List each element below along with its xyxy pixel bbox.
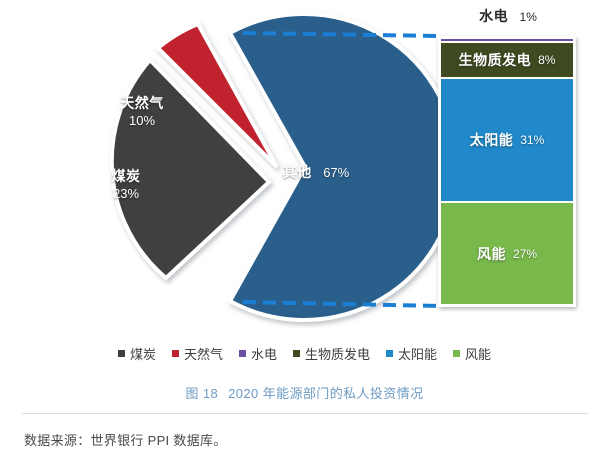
legend-swatch-coal-icon bbox=[118, 350, 125, 357]
pie-slice-coal[interactable] bbox=[112, 60, 269, 278]
figure-caption-number: 图 18 bbox=[185, 386, 218, 401]
legend-swatch-biomass-icon bbox=[293, 350, 300, 357]
legend-swatch-wind-icon bbox=[453, 350, 460, 357]
bar-segment-solar-name: 太阳能 bbox=[470, 130, 514, 150]
footer-divider bbox=[22, 413, 588, 414]
bar-label-hydro-value: 1% bbox=[520, 10, 537, 24]
stacked-bar: 生物质发电 8% 太阳能 31% 风能 27% bbox=[438, 36, 576, 307]
bar-label-hydro-name: 水电 bbox=[479, 8, 508, 24]
figure-caption-text: 2020 年能源部门的私人投资情况 bbox=[228, 386, 423, 401]
chart-graphic-area: 天然气 10% 煤炭 23% 其他 67% 水电 1% 生物质发电 8% 太阳能… bbox=[0, 0, 609, 330]
legend-swatch-natural-gas-icon bbox=[172, 350, 179, 357]
bar-segment-solar-value: 31% bbox=[520, 133, 544, 147]
legend-item-solar[interactable]: 太阳能 bbox=[386, 344, 437, 363]
bar-label-hydro-callout: 水电 1% bbox=[440, 6, 576, 26]
legend-label-solar: 太阳能 bbox=[398, 344, 437, 363]
pie-slice-other[interactable] bbox=[230, 14, 457, 320]
legend-label-wind: 风能 bbox=[465, 344, 491, 363]
legend-item-wind[interactable]: 风能 bbox=[453, 344, 491, 363]
legend-swatch-hydro-icon bbox=[239, 350, 246, 357]
bar-segment-solar[interactable]: 太阳能 31% bbox=[440, 78, 574, 202]
legend-item-coal[interactable]: 煤炭 bbox=[118, 344, 156, 363]
legend-swatch-solar-icon bbox=[386, 350, 393, 357]
bar-segment-biomass-name: 生物质发电 bbox=[459, 50, 532, 70]
bar-segment-biomass-value: 8% bbox=[538, 53, 555, 67]
legend-item-natural-gas[interactable]: 天然气 bbox=[172, 344, 223, 363]
legend-label-natural-gas: 天然气 bbox=[184, 344, 223, 363]
legend-item-biomass[interactable]: 生物质发电 bbox=[293, 344, 370, 363]
bar-segment-wind-name: 风能 bbox=[477, 244, 506, 264]
bar-segment-wind[interactable]: 风能 27% bbox=[440, 202, 574, 305]
legend-label-hydro: 水电 bbox=[251, 344, 277, 363]
source-note: 数据来源：世界银行 PPI 数据库。 bbox=[24, 430, 227, 449]
legend-item-hydro[interactable]: 水电 bbox=[239, 344, 277, 363]
bar-segment-wind-value: 27% bbox=[513, 247, 537, 261]
figure-root: 天然气 10% 煤炭 23% 其他 67% 水电 1% 生物质发电 8% 太阳能… bbox=[0, 0, 609, 469]
bar-segment-biomass[interactable]: 生物质发电 8% bbox=[440, 42, 574, 78]
legend-label-biomass: 生物质发电 bbox=[305, 344, 370, 363]
chart-legend: 煤炭 天然气 水电 生物质发电 太阳能 风能 bbox=[0, 344, 609, 363]
figure-caption: 图 182020 年能源部门的私人投资情况 bbox=[0, 383, 609, 402]
legend-label-coal: 煤炭 bbox=[130, 344, 156, 363]
